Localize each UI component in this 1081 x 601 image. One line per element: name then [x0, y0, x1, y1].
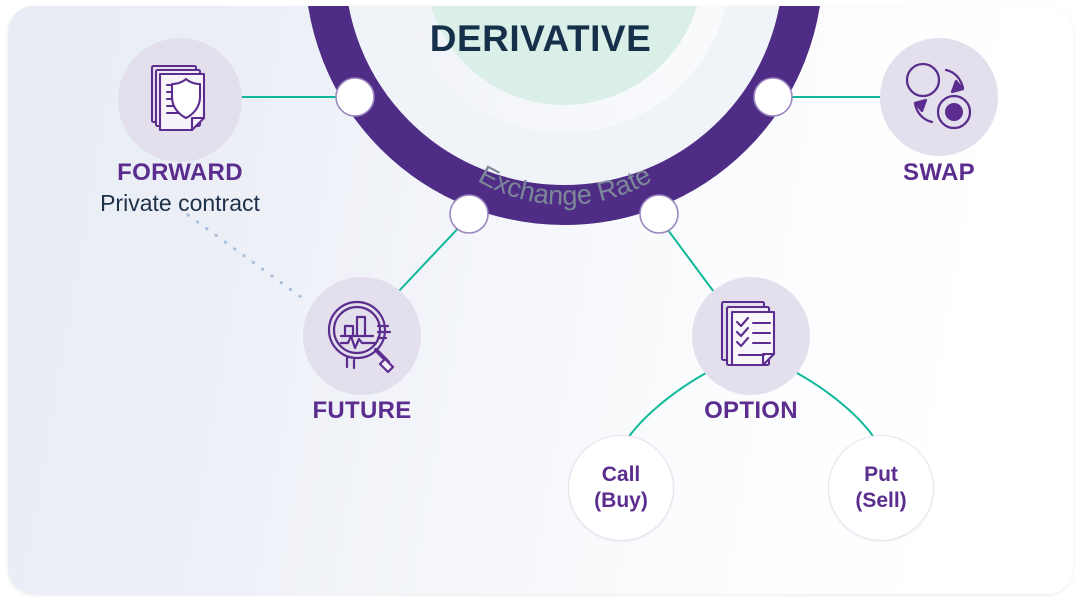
- option-label: OPTION: [601, 397, 901, 425]
- future-label: FUTURE: [212, 397, 512, 425]
- connector-future: [398, 222, 464, 292]
- swap-label: SWAP: [789, 159, 1081, 187]
- leaf-call-line2: (Buy): [594, 488, 648, 514]
- magnifier-barchart-icon: [316, 290, 408, 382]
- swap-icon-circle[interactable]: [880, 38, 998, 156]
- connector-forward-future-dotted: [188, 215, 305, 300]
- forward-sublabel: Private contract: [30, 190, 330, 217]
- diagram-canvas: Exchange Rate DERIVATIVE FORWARD Private…: [0, 0, 1081, 601]
- leaf-put-line1: Put: [864, 462, 898, 488]
- leaf-put[interactable]: Put (Sell): [828, 435, 934, 541]
- junction-node-future[interactable]: [450, 195, 488, 233]
- checklist-documents-icon: [708, 293, 794, 379]
- documents-shield-icon: [137, 57, 223, 143]
- leaf-put-line2: (Sell): [855, 488, 906, 514]
- leaf-call[interactable]: Call (Buy): [568, 435, 674, 541]
- leaf-call-line1: Call: [602, 462, 641, 488]
- swap-arrows-circles-icon: [896, 54, 982, 140]
- future-icon-circle[interactable]: [303, 277, 421, 395]
- connector-option: [662, 222, 714, 292]
- forward-icon-circle[interactable]: [118, 38, 242, 162]
- junction-node-forward[interactable]: [336, 78, 374, 116]
- junction-node-option[interactable]: [640, 195, 678, 233]
- junction-node-swap[interactable]: [754, 78, 792, 116]
- forward-label: FORWARD: [30, 159, 330, 187]
- option-icon-circle[interactable]: [692, 277, 810, 395]
